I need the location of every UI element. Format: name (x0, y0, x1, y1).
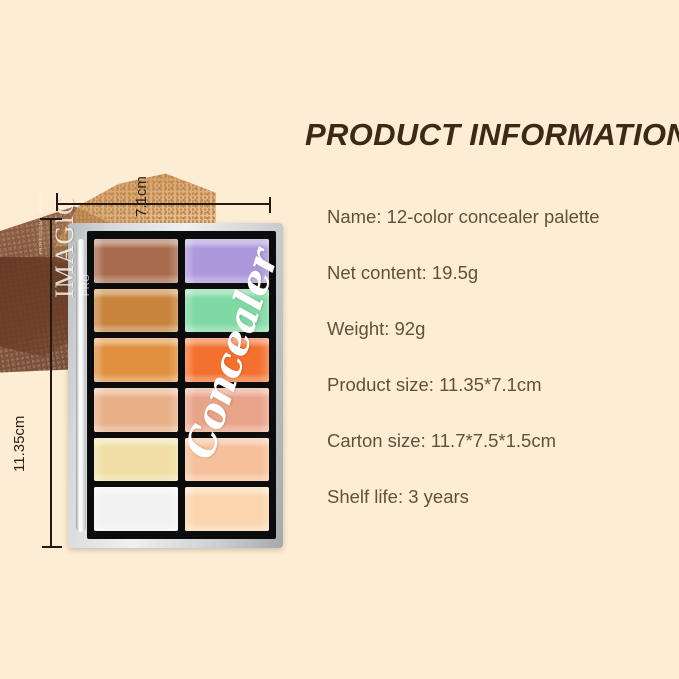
spec-row-net-content: Net content: 19.5g (327, 262, 673, 284)
height-dimension-label: 11.35cm (11, 416, 28, 472)
width-dimension-tick-left (56, 193, 58, 211)
height-dimension-tick-bottom (42, 546, 62, 548)
specification-list: Name: 12-color concealer palette Net con… (305, 206, 673, 508)
product-information-graphic: IMAGIC PRO PROFESSIONAL MAKE UP Conceale… (0, 0, 679, 679)
spec-row-weight: Weight: 92g (327, 318, 673, 340)
width-dimension-label: 7.1cm (133, 176, 150, 217)
width-dimension-line (56, 203, 271, 205)
concealer-palette-case (68, 223, 283, 548)
pan-pale-yellow (94, 438, 178, 482)
pan-bright-orange (185, 338, 269, 382)
product-information-panel: PRODUCT INFORMATION Name: 12-color conce… (305, 118, 673, 508)
palette-hinge-strip (76, 239, 86, 532)
pan-white (94, 487, 178, 531)
pan-caramel (94, 289, 178, 333)
height-dimension-line (50, 218, 52, 548)
page-title: PRODUCT INFORMATION (305, 118, 673, 152)
spec-row-carton-size: Carton size: 11.7*7.5*1.5cm (327, 430, 673, 452)
palette-pan-tray (87, 231, 276, 539)
pan-light-peach (185, 487, 269, 531)
product-photo: IMAGIC PRO PROFESSIONAL MAKE UP Conceale… (0, 150, 300, 590)
pan-warm-tan (94, 388, 178, 432)
spec-row-product-size: Product size: 11.35*7.1cm (327, 374, 673, 396)
pan-peach (185, 438, 269, 482)
width-dimension-tick-right (269, 197, 271, 213)
height-dimension-tick-top (40, 218, 62, 220)
pan-deep-brown (94, 239, 178, 283)
pan-salmon (185, 388, 269, 432)
pan-orange-tan (94, 338, 178, 382)
pan-lavender (185, 239, 269, 283)
pan-mint-green (185, 289, 269, 333)
spec-row-name: Name: 12-color concealer palette (327, 206, 673, 228)
spec-row-shelf-life: Shelf life: 3 years (327, 486, 673, 508)
